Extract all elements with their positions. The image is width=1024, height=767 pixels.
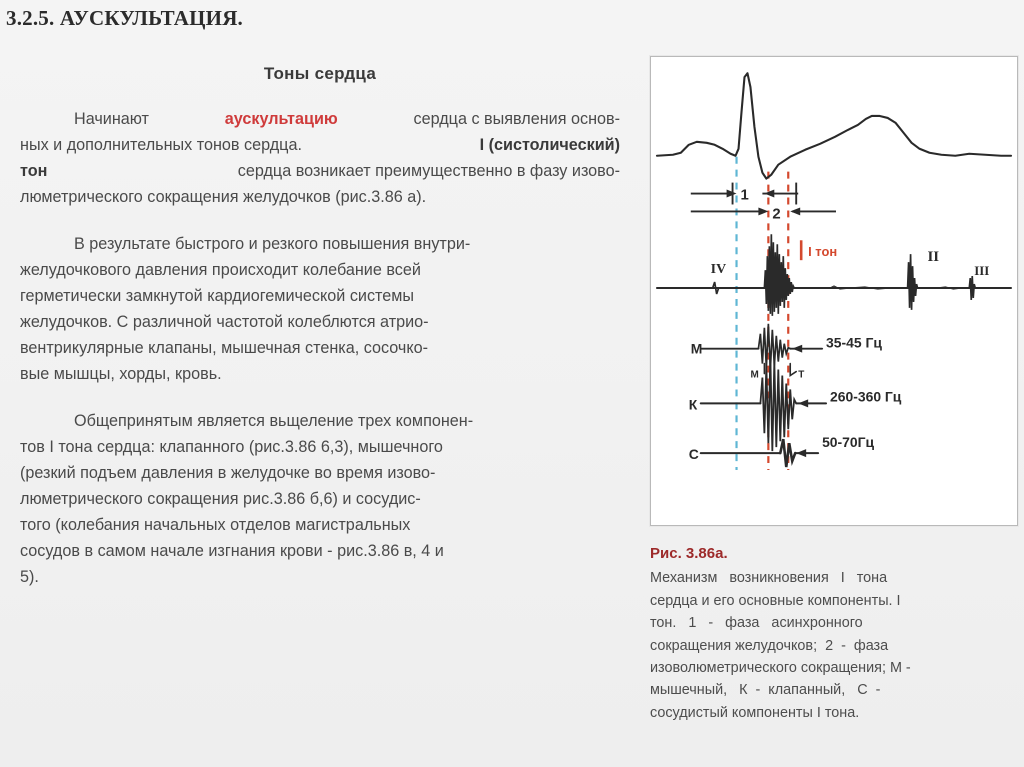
pcg-i-tone-burst [764, 234, 794, 316]
caption-line-2-text: сердца и его основные компоненты. I [650, 590, 901, 612]
caption-line-1-text: Механизм возникновения I тона [650, 567, 887, 589]
page-title: 3.2.5. АУСКУЛЬТАЦИЯ. [6, 6, 243, 31]
phonocardiogram-diagram: 1 2 [651, 57, 1017, 525]
caption-line-4: сокращения желудочков; 2 - фаза [650, 635, 1010, 657]
paragraph-2-line-5: вентрикулярные клапаны, мышечная стенка,… [20, 335, 620, 361]
paragraph-2-line-4: желудочков. С различной частотой колеблю… [20, 309, 620, 335]
p1-l1-c: сердца с выявления основ- [355, 106, 620, 132]
text-column: Тоны сердца Начинают аускультацию сердца… [12, 55, 628, 611]
ecg-waveform-path [657, 73, 1011, 178]
highlight-auskultaciyu: аускультацию [171, 106, 338, 132]
p1-l3-bold: тон [20, 158, 47, 184]
valvular-frequency-label: 260-360 Гц [830, 388, 902, 404]
phase-1-label: 1 [741, 188, 749, 204]
phase-2-label: 2 [772, 206, 780, 222]
phase2-arrowhead-left [790, 207, 800, 215]
i-tone-label: I тон [808, 244, 837, 259]
figure-caption-body: Механизм возникновения I тона сердца и е… [650, 567, 1010, 724]
ecg-trace [657, 73, 1011, 178]
vascular-frequency-label: 50-70Гц [822, 434, 874, 450]
i-tone-annotation: I тон [801, 240, 837, 260]
muscular-frequency-label: 35-45 Гц [826, 335, 882, 351]
paragraph-2-line-1: В результате быстрого и резкого повышени… [20, 231, 620, 257]
vascular-component-group [701, 439, 818, 467]
paragraph-3-line-3: (резкий подъем давления в желудочке во в… [20, 460, 620, 486]
paragraph-2: В результате быстрого и резкого повышени… [12, 231, 628, 387]
phase-markers [691, 183, 836, 216]
iii-tone-label: III [974, 263, 989, 278]
figure-caption-title: Рис. 3.86а. [650, 543, 1010, 565]
caption-line-7: сосудистый компоненты I тона. [650, 702, 1010, 724]
caption-line-5-text: изоволюметрического сокращения; М - [650, 657, 911, 679]
c-component-label: С [689, 446, 699, 462]
phase1-arrowhead-right [727, 190, 737, 198]
p1-l1-a: Начинают [20, 106, 153, 132]
paragraph-1-line-3: тон сердца возникает преимущественно в ф… [20, 158, 620, 184]
paragraph-3-line-7: 5). [20, 564, 620, 590]
paragraph-2-line-2: желудочкового давления происходит колеба… [20, 257, 620, 283]
caption-line-3: тон. 1 - фаза асинхронного [650, 612, 1010, 634]
valvular-component-group [701, 356, 826, 451]
figure-column: 1 2 [640, 0, 1024, 767]
pcg-ii-tone-burst [908, 254, 918, 310]
paragraph-3-line-5: того (колебания начальных отделов магист… [20, 512, 620, 538]
paragraph-3: Общепринятым является вьщеление трех ком… [12, 408, 628, 590]
figure-image-box: 1 2 [650, 56, 1018, 526]
paragraph-2-line-3: герметически замкнутой кардиогемической … [20, 283, 620, 309]
pcg-iii-tone-blip [969, 276, 975, 300]
paragraph-1-line-4: люметрического сокращения желудочков (ри… [20, 184, 620, 210]
caption-line-2: сердца и его основные компоненты. I [650, 590, 1010, 612]
paragraph-2-line-6: вые мышцы, хорды, кровь. [20, 361, 620, 387]
p1-l2-bold: I (систолический) [480, 132, 620, 158]
p1-l2-a: ных и дополнительных тонов сердца. [20, 132, 306, 158]
p1-l3-b: сердца возникает преимущественно в фазу … [233, 158, 620, 184]
paragraph-3-line-6: сосудов в самом начале изгнания крови - … [20, 538, 620, 564]
t-marker-label: Т [798, 370, 804, 381]
m-component-label: М [691, 341, 703, 357]
figure-caption: Рис. 3.86а. Механизм возникновения I тон… [650, 543, 1010, 724]
muscular-component-group [701, 324, 822, 376]
caption-line-6: мышечный, К - клапанный, С - [650, 679, 1010, 701]
caption-line-3-text: тон. 1 - фаза асинхронного [650, 612, 863, 634]
m-arrowhead [792, 345, 802, 353]
iv-tone-label: IV [711, 262, 726, 277]
k-component-label: К [689, 396, 698, 412]
paragraph-1-line-2: ных и дополнительных тонов сердца. I (си… [20, 132, 620, 158]
caption-line-5: изоволюметрического сокращения; М - [650, 657, 1010, 679]
ii-tone-label: II [927, 249, 939, 265]
c-arrowhead [796, 449, 806, 457]
paragraph-3-line-4: люметрического сокращения рис.3.86 б,6) … [20, 486, 620, 512]
m-sub-label: М [750, 370, 758, 381]
caption-line-1: Механизм возникновения I тона [650, 567, 1010, 589]
paragraph-3-line-2: тов I тона сердца: клапанного (рис.3.86 … [20, 434, 620, 460]
page-background: 3.2.5. АУСКУЛЬТАЦИЯ. Тоны сердца Начинаю… [0, 0, 1024, 767]
phase2-arrowhead-right [758, 207, 768, 215]
paragraph-3-line-1: Общепринятым является вьщеление трех ком… [20, 408, 620, 434]
paragraph-1: Начинают аускультацию сердца с выявления… [12, 106, 628, 210]
caption-line-4-text: сокращения желудочков; 2 - фаза [650, 635, 888, 657]
article-title: Тоны сердца [12, 64, 628, 84]
t-marker-hook [790, 364, 796, 376]
caption-line-6-text: мышечный, К - клапанный, С - [650, 679, 880, 701]
k-arrowhead [798, 399, 808, 407]
paragraph-1-line-1: Начинают аускультацию сердца с выявления… [20, 106, 620, 132]
